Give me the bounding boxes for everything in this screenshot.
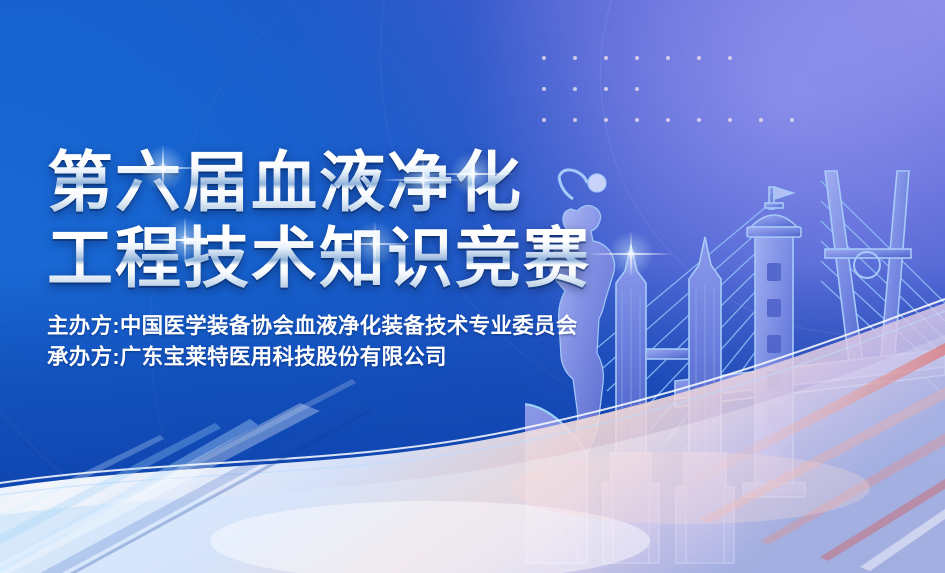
banner-title-line-2: 工程技术知识竞赛 <box>47 222 687 294</box>
banner-text-block: 第六届血液净化 工程技术知识竞赛 主办方:中国医学装备协会血液净化装备技术专业委… <box>47 146 687 372</box>
dot-grid-row <box>542 87 821 91</box>
co-organizer-line: 承办方:广东宝莱特医用科技股份有限公司 <box>47 343 687 372</box>
event-banner: 第六届血液净化 工程技术知识竞赛 主办方:中国医学装备协会血液净化装备技术专业委… <box>0 0 945 573</box>
banner-title-line-1: 第六届血液净化 <box>47 146 687 218</box>
dot-grid-row <box>542 118 821 122</box>
dot-grid-row <box>542 56 821 60</box>
dot-grid-decoration <box>542 56 821 122</box>
organizer-line: 主办方:中国医学装备协会血液净化装备技术专业委员会 <box>47 312 687 341</box>
